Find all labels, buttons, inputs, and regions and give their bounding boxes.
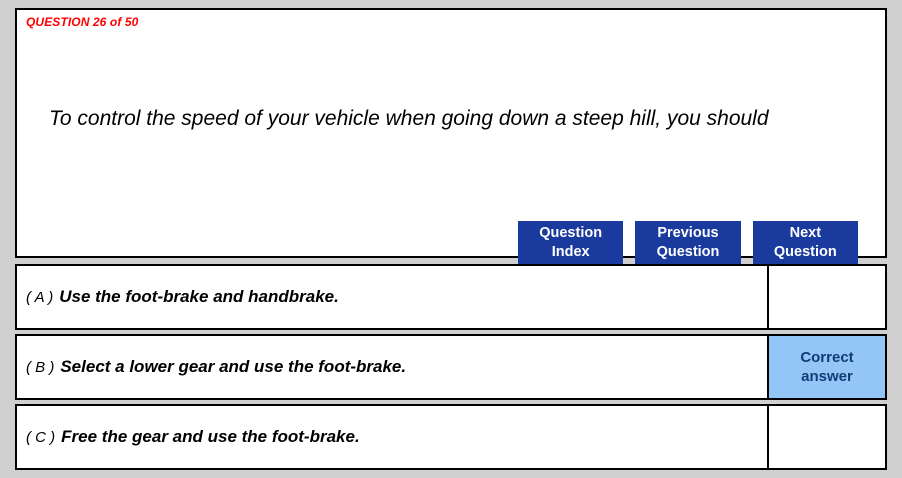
answer-label-c: Free the gear and use the foot-brake. xyxy=(61,427,360,447)
answer-mark-c xyxy=(767,406,885,468)
next-question-button-line1: Next xyxy=(790,224,821,243)
answer-option-c[interactable]: ( C ) Free the gear and use the foot-bra… xyxy=(17,406,767,468)
correct-answer-line1: Correct xyxy=(800,348,853,367)
question-counter: QUESTION 26 of 50 xyxy=(26,15,138,29)
question-index-button-line1: Question xyxy=(539,224,602,243)
previous-question-button[interactable]: Previous Question xyxy=(635,221,740,265)
next-question-button[interactable]: Next Question xyxy=(753,221,858,265)
previous-question-button-line1: Previous xyxy=(657,224,718,243)
quiz-screen: QUESTION 26 of 50 To control the speed o… xyxy=(0,0,902,478)
answer-label-a: Use the foot-brake and handbrake. xyxy=(59,287,339,307)
next-question-button-line2: Question xyxy=(774,243,837,262)
answer-option-a[interactable]: ( A ) Use the foot-brake and handbrake. xyxy=(17,266,767,328)
answer-letter-b: ( B ) xyxy=(26,359,54,376)
answer-row[interactable]: ( B ) Select a lower gear and use the fo… xyxy=(15,334,887,400)
question-panel: QUESTION 26 of 50 To control the speed o… xyxy=(15,8,887,258)
answer-letter-c: ( C ) xyxy=(26,429,55,446)
correct-answer-badge: Correct answer xyxy=(767,336,885,398)
question-index-button[interactable]: Question Index xyxy=(518,221,623,265)
answer-label-b: Select a lower gear and use the foot-bra… xyxy=(60,357,406,377)
answer-letter-a: ( A ) xyxy=(26,289,53,306)
correct-answer-line2: answer xyxy=(800,367,853,386)
answer-row[interactable]: ( A ) Use the foot-brake and handbrake. xyxy=(15,264,887,330)
answer-row[interactable]: ( C ) Free the gear and use the foot-bra… xyxy=(15,404,887,470)
correct-answer-text: Correct answer xyxy=(800,348,853,386)
navigation-buttons: Question Index Previous Question Next Qu… xyxy=(518,221,858,265)
answer-option-b[interactable]: ( B ) Select a lower gear and use the fo… xyxy=(17,336,767,398)
previous-question-button-line2: Question xyxy=(657,243,720,262)
answer-mark-a xyxy=(767,266,885,328)
question-index-button-line2: Index xyxy=(552,243,590,262)
question-text: To control the speed of your vehicle whe… xyxy=(49,105,839,133)
